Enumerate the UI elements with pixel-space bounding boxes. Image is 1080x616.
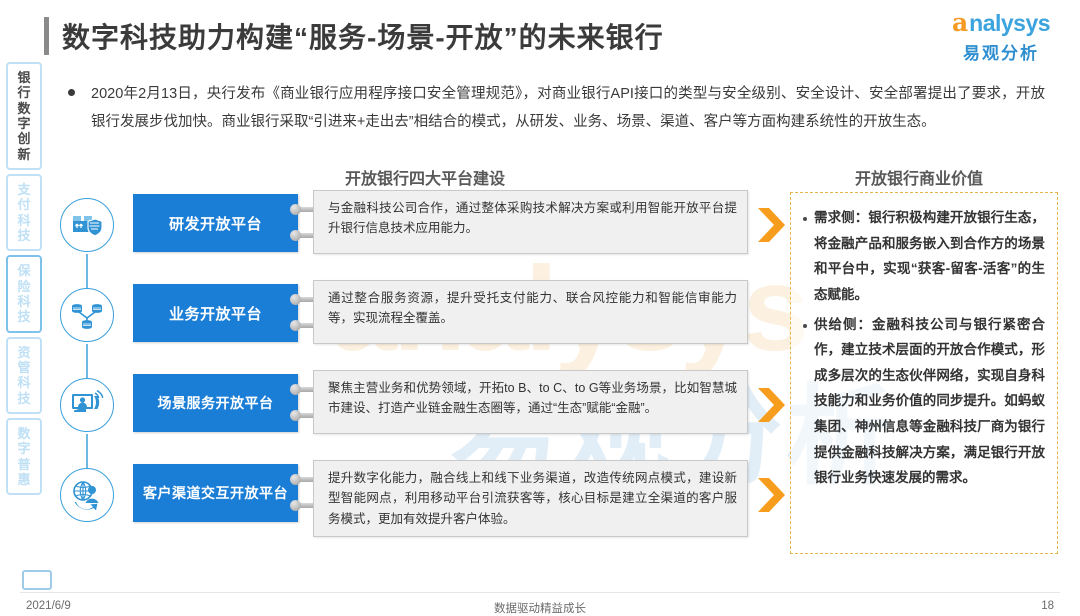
business-value-panel: 需求侧：银行积极构建开放银行生态，将金融产品和服务嵌入到合作方的场景和平台中，实…	[790, 192, 1058, 554]
platform-name-box[interactable]: 业务开放平台	[133, 284, 298, 342]
package-shield-icon	[60, 198, 114, 252]
platform-description: 与金融科技公司合作，通过整体采购技术解决方案或利用智能开放平台提升银行信息技术应…	[313, 190, 748, 254]
sidebar-item-label-char: 创	[17, 131, 30, 146]
platform-row: 研发开放平台与金融科技公司合作，通过整体采购技术解决方案或利用智能开放平台提升银…	[0, 190, 790, 280]
connector-stem-up	[86, 354, 88, 378]
page-title: 数字科技助力构建“服务-场景-开放”的未来银行	[62, 16, 664, 56]
platform-row: 客户渠道交互开放平台提升数字化能力，融合线上和线下业务渠道，改造传统网点模式，建…	[0, 460, 790, 550]
sidebar-item-label-char: 字	[17, 116, 30, 131]
corner-decoration	[22, 570, 52, 590]
platform-name-box[interactable]: 场景服务开放平台	[133, 374, 298, 432]
footer-divider	[20, 592, 1060, 593]
page-title-bar: 数字科技助力构建“服务-场景-开放”的未来银行	[44, 16, 664, 56]
intro-text: 2020年2月13日，央行发布《商业银行应用程序接口安全管理规范》，对商业银行A…	[91, 80, 1045, 137]
platform-icon-wrap	[58, 376, 116, 438]
sidebar-item-0[interactable]: 银行数字创新	[6, 62, 42, 170]
logo-chinese-name: 易观分析	[940, 39, 1062, 64]
intro-paragraph: 2020年2月13日，央行发布《商业银行应用程序接口安全管理规范》，对商业银行A…	[60, 80, 1045, 137]
value-point-text: 供给侧：金融科技公司与银行紧密合作，建立技术层面的开放合作模式，形成多层次的生态…	[814, 312, 1045, 491]
sidebar-item-label-char: 新	[17, 147, 30, 162]
platform-row: 业务开放平台通过整合服务资源，提升受托支付能力、联合风控能力和智能信审能力等，实…	[0, 280, 790, 370]
platform-description: 通过整合服务资源，提升受托支付能力、联合风控能力和智能信审能力等，实现流程全覆盖…	[313, 280, 748, 344]
sidebar-item-label-char: 数	[17, 101, 30, 116]
logo-mark-icon: a	[952, 10, 968, 35]
platform-name-box[interactable]: 客户渠道交互开放平台	[133, 464, 298, 522]
globe-user-arrow-icon	[60, 468, 114, 522]
platform-name-box[interactable]: 研发开放平台	[133, 194, 298, 252]
platform-icon-wrap	[58, 286, 116, 348]
bullet-dot-icon	[803, 217, 807, 221]
monitor-user-signal-icon	[60, 378, 114, 432]
logo-wordmark: nalysys	[969, 12, 1050, 35]
chevron-right-icon	[756, 476, 786, 514]
title-rule	[44, 17, 49, 55]
value-point-text: 需求侧：银行积极构建开放银行生态，将金融产品和服务嵌入到合作方的场景和平台中，实…	[814, 205, 1045, 308]
sidebar-item-label-char: 银	[17, 70, 30, 85]
analysys-logo: a nalysys 易观分析	[940, 10, 1062, 64]
platform-flow-list: 研发开放平台与金融科技公司合作，通过整体采购技术解决方案或利用智能开放平台提升银…	[0, 190, 790, 550]
value-point: 供给侧：金融科技公司与银行紧密合作，建立技术层面的开放合作模式，形成多层次的生态…	[801, 312, 1045, 491]
platform-icon-wrap	[58, 196, 116, 258]
connector-stem-up	[86, 264, 88, 288]
sidebar-item-label-char: 行	[17, 85, 30, 100]
platform-description: 提升数字化能力，融合线上和线下业务渠道，改造传统网点模式，建设新型智能网点，利用…	[313, 460, 748, 537]
database-network-icon	[60, 288, 114, 342]
platform-description: 聚焦主营业务和优势领域，开拓to B、to C、to G等业务场景，比如智慧城市…	[313, 370, 748, 434]
chevron-right-icon	[756, 206, 786, 244]
value-point: 需求侧：银行积极构建开放银行生态，将金融产品和服务嵌入到合作方的场景和平台中，实…	[801, 205, 1045, 308]
bullet-dot-icon	[68, 89, 75, 96]
connector-stem-up	[86, 444, 88, 468]
left-column-header: 开放银行四大平台建设	[345, 165, 505, 189]
platform-row: 场景服务开放平台聚焦主营业务和优势领域，开拓to B、to C、to G等业务场…	[0, 370, 790, 460]
footer-slogan: 数据驱动精益成长	[0, 600, 1080, 616]
footer-page-number: 18	[1041, 600, 1054, 612]
platform-icon-wrap	[58, 466, 116, 528]
bullet-dot-icon	[803, 324, 807, 328]
chevron-right-icon	[756, 386, 786, 424]
right-column-header: 开放银行商业价值	[855, 165, 983, 189]
